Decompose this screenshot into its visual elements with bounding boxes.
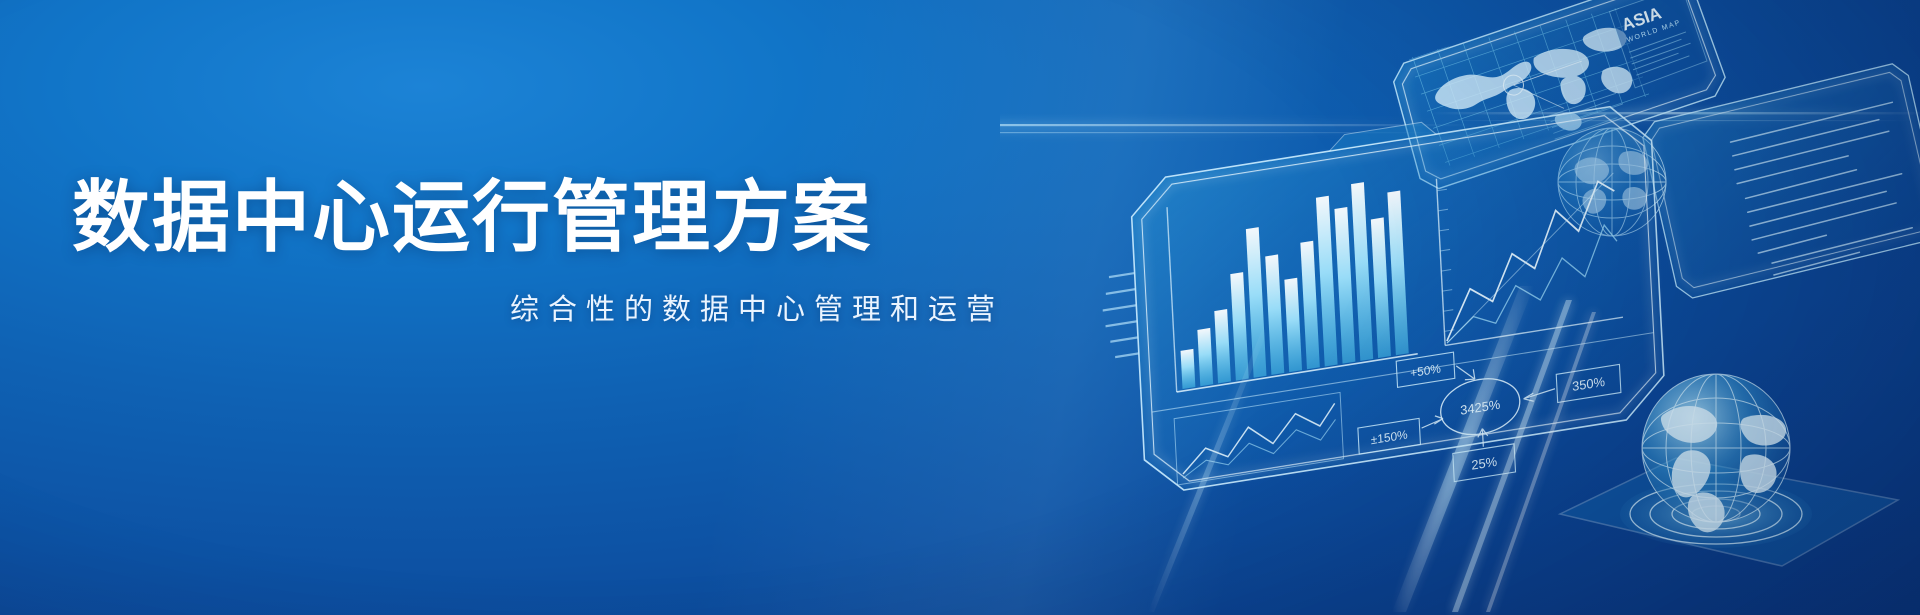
hero-banner: ASIA WORLD MAP [0,0,1920,615]
panel-left-ticks [1101,273,1139,359]
main-dashboard-panel: 3425% +50% ±150% 350% 25% [1096,86,1668,535]
page-subtitle: 综合性的数据中心管理和运营 [72,286,1022,328]
page-title: 数据中心运行管理方案 [72,178,1022,256]
flow-node-4-label: 25% [1471,454,1498,473]
hud-artwork: ASIA WORLD MAP [1000,0,1920,615]
copy-block: 数据中心运行管理方案 综合性的数据中心管理和运营 [72,178,1022,328]
